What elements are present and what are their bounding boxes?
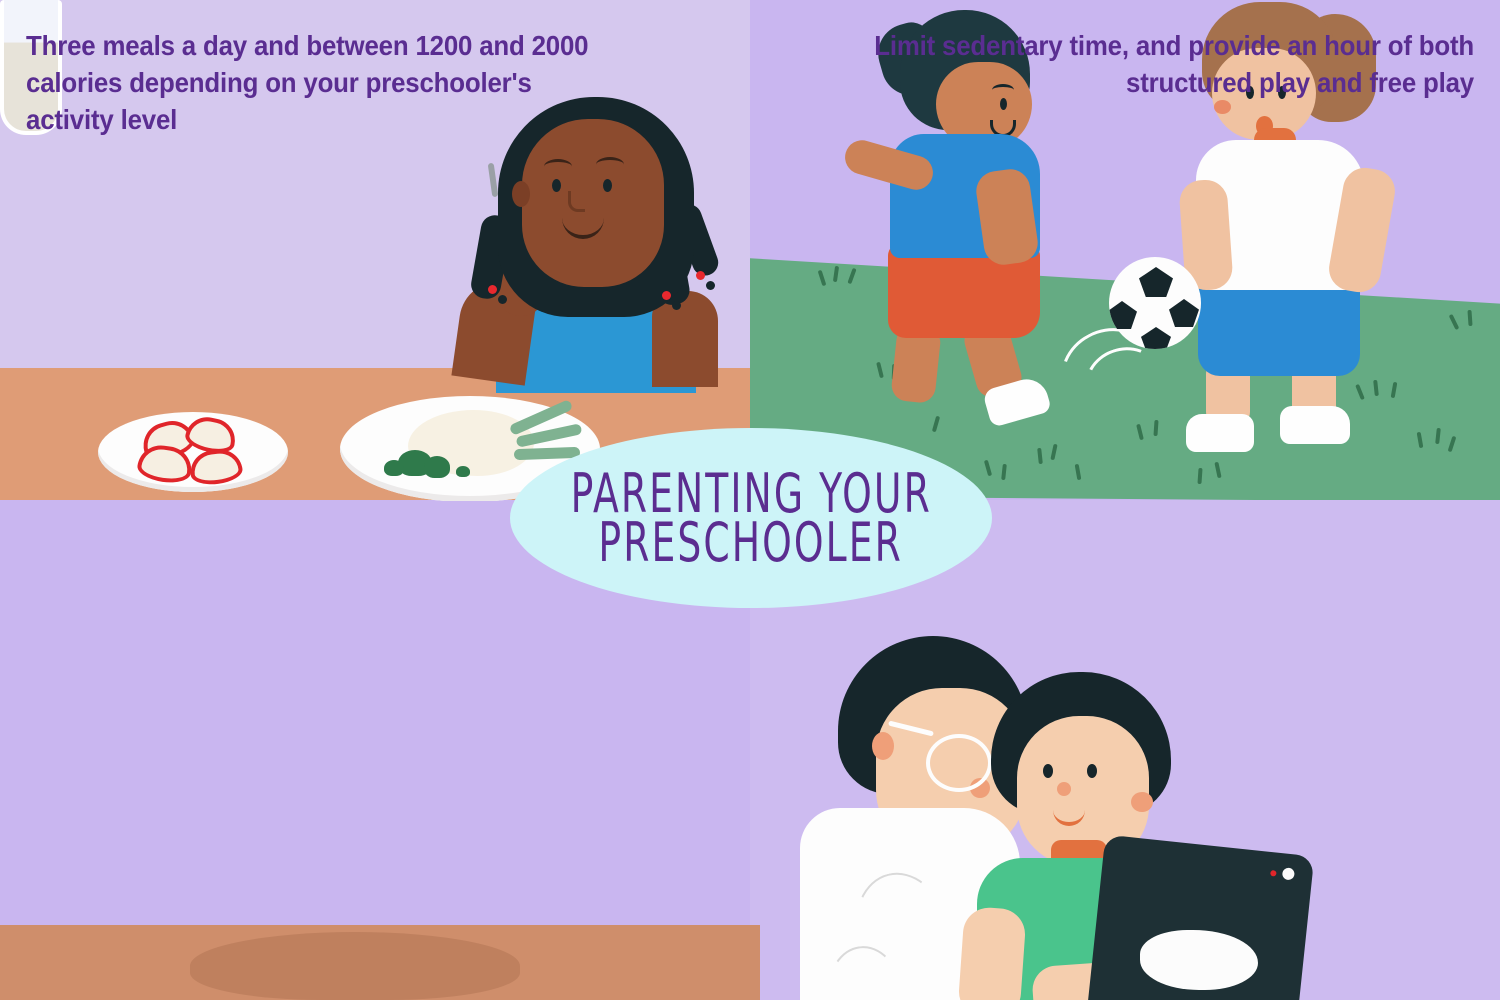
- girl-eating-illustration: [440, 95, 740, 385]
- table-stain: [190, 932, 520, 1000]
- plate-of-apple-slices: [98, 412, 288, 492]
- girl-ear: [512, 181, 530, 207]
- broccoli-icon: [456, 466, 470, 477]
- hair-bead: [706, 281, 715, 290]
- hair-bead: [488, 285, 497, 294]
- title-line-2: PRESCHOOLER: [599, 514, 903, 572]
- girl-face: [522, 119, 664, 287]
- panel-activity: Limit sedentary time, and provide an hou…: [750, 0, 1500, 501]
- child-nose: [1057, 782, 1071, 796]
- child-b-sneaker: [1186, 414, 1254, 452]
- tablet-indicator-dot: [1270, 870, 1277, 877]
- girl-eye: [603, 179, 612, 192]
- fork-tine: [488, 163, 499, 198]
- ball-pentagon: [1141, 327, 1171, 349]
- panel-nutrition: Three meals a day and between 1200 and 2…: [0, 0, 751, 501]
- child-b-cheek: [1214, 100, 1231, 114]
- broccoli-icon: [384, 460, 404, 476]
- girl-eyebrow: [596, 157, 624, 172]
- hair-bead: [696, 271, 705, 280]
- child-cheek: [1131, 792, 1153, 812]
- ball-pentagon: [1139, 267, 1173, 297]
- soccer-ball-icon: [1109, 257, 1201, 349]
- tablet-camera-icon: [1282, 867, 1295, 880]
- child-eye: [1043, 764, 1053, 778]
- ball-pentagon: [1109, 301, 1137, 329]
- ball-pentagon: [1169, 299, 1199, 327]
- apple-slice-icon: [188, 447, 244, 487]
- child-b-sneaker: [1280, 406, 1350, 444]
- girl-eyebrow: [544, 159, 572, 174]
- child-eye: [1087, 764, 1097, 778]
- hair-bead: [662, 291, 671, 300]
- child-arm: [957, 906, 1027, 1000]
- caption-activity: Limit sedentary time, and provide an hou…: [854, 28, 1474, 102]
- hair-bead: [498, 295, 507, 304]
- girl-eye: [552, 179, 561, 192]
- parent-ear: [872, 732, 894, 760]
- infographic-poster: Three meals a day and between 1200 and 2…: [0, 0, 1500, 1000]
- broccoli-icon: [424, 456, 450, 478]
- title-badge: PARENTING YOUR PRESCHOOLER: [510, 428, 992, 608]
- girl-nose: [568, 191, 585, 212]
- hair-bead: [672, 301, 681, 310]
